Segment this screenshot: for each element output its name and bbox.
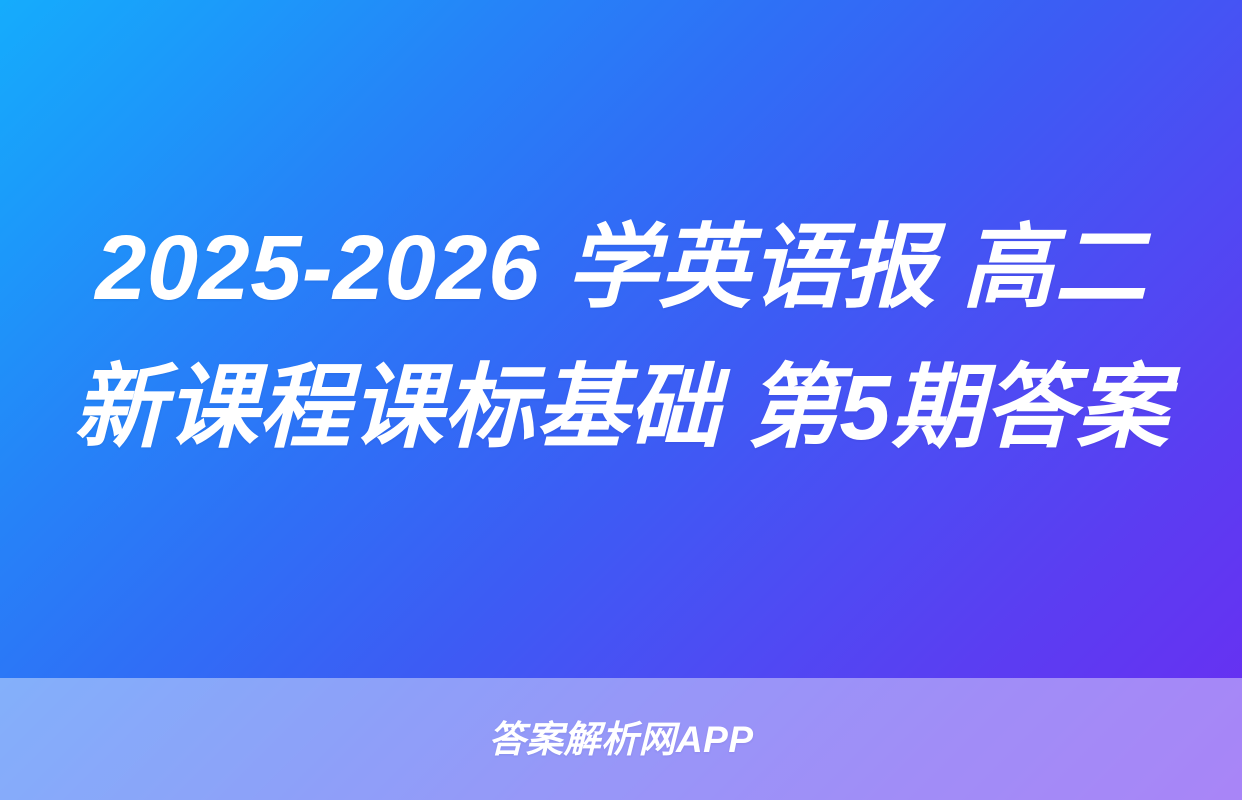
title-area: 2025-2026 学英语报 高二 新课程课标基础 第5期答案	[0, 0, 1242, 678]
app-watermark-label: 答案解析网APP	[488, 721, 753, 758]
answer-poster: 2025-2026 学英语报 高二 新课程课标基础 第5期答案 答案解析网APP	[0, 0, 1242, 800]
watermark-bar: 答案解析网APP	[0, 678, 1242, 800]
page-title: 2025-2026 学英语报 高二 新课程课标基础 第5期答案	[66, 199, 1176, 479]
